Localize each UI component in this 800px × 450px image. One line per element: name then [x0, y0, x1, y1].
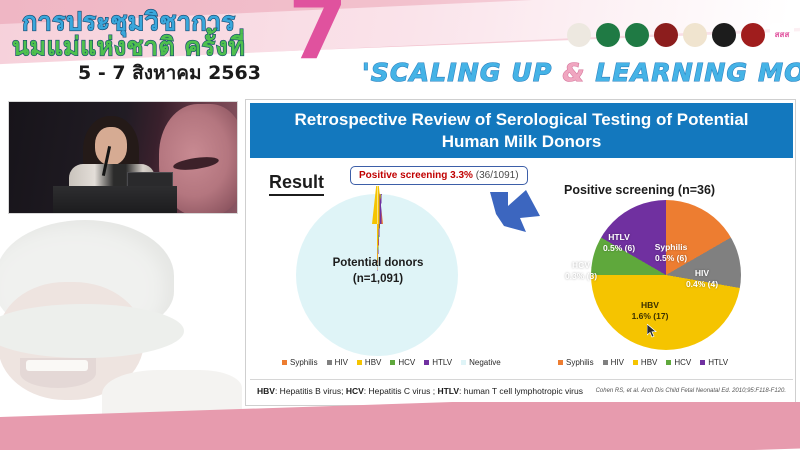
slice-label-syphilis-value: 0.5% (6): [644, 253, 698, 264]
footer-pink-band: [0, 402, 800, 450]
logo-university: [712, 23, 736, 47]
podium: [53, 186, 177, 214]
callout-highlight-text: Positive screening 3.3%: [359, 170, 473, 181]
legend-item-htlv: HTLV: [700, 358, 728, 367]
slice-label-hbv: HBV 1.6% (17): [619, 300, 681, 322]
conference-header-banner: การประชุมวิชาการ นมแม่แห่งชาติ ครั้งที่ …: [0, 0, 800, 95]
tagline-ampersand: &: [562, 58, 585, 87]
logo-ministry-public-health-2: [625, 23, 649, 47]
logo-royal-emblem: [683, 23, 707, 47]
legend-potential-donors: SyphilisHIVHBVHCVHTLVNegative: [282, 358, 501, 367]
slice-label-htlv-value: 0.5% (6): [594, 243, 644, 254]
legend-swatch-hiv: [603, 360, 608, 365]
logo-thai-breastfeeding: [567, 23, 591, 47]
legend-item-htlv: HTLV: [424, 358, 452, 367]
legend-swatch-syphilis: [558, 360, 563, 365]
slice-label-hcv-value: 0.3% (3): [558, 271, 604, 282]
conference-tagline: 'SCALING UP & LEARNING MORE': [362, 58, 800, 87]
slide-footnote: HBV: Hepatitis B virus; HCV: Hepatitis C…: [250, 379, 793, 401]
logo-medical-council: [741, 23, 765, 47]
legend-swatch-hiv: [327, 360, 332, 365]
slice-label-syphilis: Syphilis 0.5% (6): [644, 242, 698, 264]
legend-swatch-hbv: [633, 360, 638, 365]
slide-title: Retrospective Review of Serological Test…: [250, 103, 793, 158]
legend-swatch-htlv: [424, 360, 429, 365]
legend-swatch-hbv: [357, 360, 362, 365]
conference-edition-number: 7: [288, 0, 348, 72]
pie-left-label-line2: (n=1,091): [263, 272, 493, 288]
baby-mouth: [20, 358, 96, 388]
slice-label-hbv-name: HBV: [619, 300, 681, 311]
mouse-cursor-icon: [647, 324, 658, 339]
speaker-video-feed[interactable]: [8, 101, 238, 214]
blue-arrow-icon: [486, 186, 544, 236]
positive-screening-callout: Positive screening 3.3% (36/1091): [350, 166, 528, 185]
tagline-part2: LEARNING MORE': [585, 58, 800, 87]
legend-item-hiv: HIV: [327, 358, 348, 367]
logo-royal-college: [654, 23, 678, 47]
legend-swatch-hcv: [666, 360, 671, 365]
pie-left-center-label: Potential donors (n=1,091): [263, 256, 493, 287]
legend-item-syphilis: Syphilis: [558, 358, 594, 367]
legend-label-hiv: HIV: [611, 358, 624, 367]
legend-item-hcv: HCV: [390, 358, 415, 367]
callout-detail-text: (36/1091): [476, 170, 519, 181]
legend-label-hbv: HBV: [365, 358, 381, 367]
chart-positive-screening-title: Positive screening (n=36): [564, 183, 715, 197]
legend-label-syphilis: Syphilis: [290, 358, 318, 367]
slice-label-hcv-name: HCV: [558, 260, 604, 271]
legend-swatch-htlv: [700, 360, 705, 365]
footer-band-dark: [0, 402, 800, 450]
legend-label-syphilis: Syphilis: [566, 358, 594, 367]
legend-item-hbv: HBV: [357, 358, 381, 367]
baby-hat-brim: [0, 304, 184, 358]
baby-watermark-image: [0, 218, 244, 414]
chart-potential-donors: Potential donors (n=1,091): [263, 194, 493, 359]
legend-label-negative: Negative: [469, 358, 501, 367]
slice-label-hiv: HIV 0.4% (4): [679, 268, 725, 290]
legend-label-hcv: HCV: [674, 358, 691, 367]
legend-item-hcv: HCV: [666, 358, 691, 367]
result-heading: Result: [269, 172, 324, 196]
logo-ministry-public-health-1: [596, 23, 620, 47]
legend-label-htlv: HTLV: [432, 358, 452, 367]
legend-positive-screening: SyphilisHIVHBVHCVHTLV: [558, 358, 728, 367]
slice-label-syphilis-name: Syphilis: [644, 242, 698, 253]
legend-item-syphilis: Syphilis: [282, 358, 318, 367]
slice-label-hiv-value: 0.4% (4): [679, 279, 725, 290]
legend-item-hbv: HBV: [633, 358, 657, 367]
slice-label-hcv: HCV 0.3% (3): [558, 260, 604, 282]
legend-item-hiv: HIV: [603, 358, 624, 367]
footnote-citation: Cohen RS, et al. Arch Dis Child Fetal Ne…: [596, 388, 786, 394]
slice-label-hbv-value: 1.6% (17): [619, 311, 681, 322]
sponsor-logo-row: สสส: [567, 23, 794, 47]
footnote-abbreviations: HBV: Hepatitis B virus; HCV: Hepatitis C…: [257, 386, 583, 396]
slice-label-htlv-name: HTLV: [594, 232, 644, 243]
baby-teeth: [26, 360, 88, 371]
legend-item-negative: Negative: [461, 358, 501, 367]
legend-label-htlv: HTLV: [708, 358, 728, 367]
conference-date-thai: 5 - 7 สิงหาคม 2563: [78, 58, 261, 88]
legend-label-hbv: HBV: [641, 358, 657, 367]
legend-label-hiv: HIV: [335, 358, 348, 367]
slice-label-hiv-name: HIV: [679, 268, 725, 279]
slice-label-htlv: HTLV 0.5% (6): [594, 232, 644, 254]
presentation-slide: Retrospective Review of Serological Test…: [245, 99, 796, 406]
chart-positive-screening: HTLV 0.5% (6) Syphilis 0.5% (6) HIV 0.4%…: [551, 200, 791, 350]
legend-label-hcv: HCV: [398, 358, 415, 367]
pie-left-label-line1: Potential donors: [263, 256, 493, 272]
legend-swatch-hcv: [390, 360, 395, 365]
logo-thaihealth-sss: สสส: [770, 23, 794, 47]
tagline-part1: 'SCALING UP: [362, 58, 562, 87]
legend-swatch-negative: [461, 360, 466, 365]
legend-swatch-syphilis: [282, 360, 287, 365]
